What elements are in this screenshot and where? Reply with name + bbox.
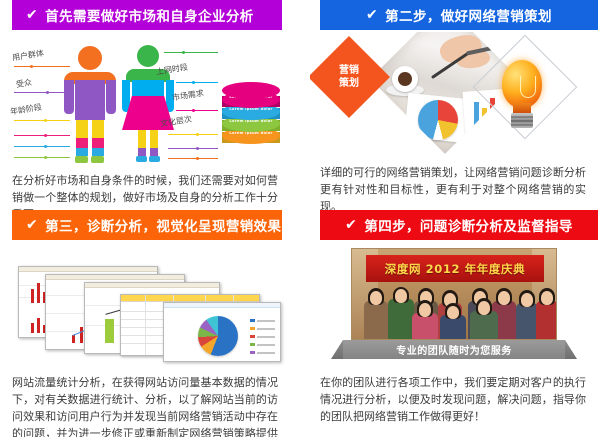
report-header-4 <box>121 295 259 302</box>
check-icon: ✔ <box>26 217 38 231</box>
male-leg-right-seg2 <box>92 138 104 148</box>
quadrant-step-2: ✔ 第二步，做好网络营销策划 <box>310 0 598 215</box>
quadrant-step-1: ✔ 首先需要做好市场和自身企业分析 <box>0 0 288 223</box>
leader-dot-2 <box>46 91 49 94</box>
leader-dot-8 <box>192 81 195 84</box>
male-leg-right <box>92 120 104 138</box>
male-arm-left <box>64 80 74 114</box>
leader-dot-12 <box>196 157 199 160</box>
quadrant-step-4: ✔ 第四步，问题诊断分析及监督指导 深度网 2012 年年度庆典 <box>310 210 598 425</box>
figure-people-database: 用户群体 受众 年龄阶段 上网时段 市场需求 文化层次 <box>0 36 288 164</box>
leader-line-12 <box>168 158 218 159</box>
bar-1 <box>474 102 479 128</box>
leader-line-8 <box>176 82 218 83</box>
male-leg-left <box>76 120 88 138</box>
pie-chart-icon <box>418 100 458 140</box>
leader-dot-3 <box>44 119 47 122</box>
event-banner: 深度网 2012 年年度庆典 <box>366 255 544 282</box>
label-online-hours: 上网时段 <box>155 62 188 78</box>
male-foot-left <box>75 156 88 163</box>
figure-team-photo: 深度网 2012 年年度庆典 <box>310 246 598 368</box>
banner-label-step-3: 第三，诊断分析，视觉化呈现营销效果 <box>45 215 281 235</box>
team-photo-caption-bar: 专业的团队随时为您服务 <box>343 340 565 359</box>
label-audience: 受众 <box>15 77 33 90</box>
leader-dot-7 <box>182 51 185 54</box>
banner-label-step-4: 第四步，问题诊断分析及监督指导 <box>364 215 573 235</box>
female-foot-left <box>136 156 147 162</box>
male-leg-left-seg2 <box>76 138 88 148</box>
figure-marketing-plan: 营销 策划 <box>310 32 598 158</box>
bulb-filament <box>520 76 536 98</box>
paragraph-step-3: 网站流量统计分析，在获得网站访问量基本数据的情况下，对有关数据进行统计、分析，以… <box>0 374 288 437</box>
person-9 <box>412 299 438 339</box>
person-7 <box>516 285 538 339</box>
person-8 <box>536 283 557 339</box>
leader-line-3 <box>14 120 70 121</box>
check-icon: ✔ <box>26 7 38 21</box>
female-leg-right-seg2 <box>150 148 158 156</box>
female-leg-left-seg2 <box>138 148 146 156</box>
male-foot-right <box>91 156 104 163</box>
leader-dot-5 <box>44 145 47 148</box>
pie-chart-report <box>198 316 238 356</box>
male-leg-left-seg3 <box>76 148 88 156</box>
banner-step-1: ✔ 首先需要做好市场和自身企业分析 <box>12 0 282 30</box>
female-leg-left <box>138 130 146 148</box>
female-head-icon <box>137 45 159 67</box>
team-photo: 深度网 2012 年年度庆典 <box>351 248 557 340</box>
male-torso <box>75 80 105 120</box>
female-foot-right <box>149 156 160 162</box>
database-stack-icon: Lorem Ipsum dolor Lorem Ipsum dolor Lore… <box>222 82 280 152</box>
check-icon: ✔ <box>366 7 378 21</box>
figure-report-screenshots <box>0 250 288 368</box>
page-root: ✔ 首先需要做好市场和自身企业分析 <box>0 0 600 437</box>
check-icon: ✔ <box>345 217 357 231</box>
paragraph-step-2: 详细的可行的网络营销策划，让网络营销问题诊断分析更有针对性和目标性，更有利于对整… <box>310 164 598 215</box>
leader-dot-4 <box>44 134 47 137</box>
label-age-range: 年龄阶段 <box>9 102 42 118</box>
db-disc-top <box>222 82 280 99</box>
leader-dot-1 <box>30 65 33 68</box>
plinth-left <box>331 340 343 359</box>
report-header-1 <box>19 267 157 272</box>
lightbulb-icon <box>496 60 548 134</box>
female-torso <box>132 80 164 97</box>
quadrant-step-3: ✔ 第三，诊断分析，视觉化呈现营销效果 <box>0 210 288 437</box>
female-leg-right <box>150 130 158 148</box>
leader-line-5 <box>14 146 70 147</box>
banner-step-3: ✔ 第三，诊断分析，视觉化呈现营销效果 <box>12 210 282 240</box>
bulb-base <box>511 113 533 128</box>
person-11 <box>470 297 498 339</box>
marketing-plan-diamond-label: 营销 策划 <box>339 64 359 90</box>
banner-step-4: ✔ 第四步，问题诊断分析及监督指导 <box>320 210 598 240</box>
male-leg-right-seg3 <box>92 148 104 156</box>
person-1 <box>364 285 388 339</box>
team-photo-caption: 专业的团队随时为您服务 <box>396 342 512 357</box>
male-head-icon <box>78 46 102 70</box>
plinth-right <box>565 340 577 359</box>
person-2 <box>388 281 414 339</box>
leader-dot-6 <box>44 156 47 159</box>
male-arm-right <box>106 80 116 114</box>
bulb-glass <box>502 60 542 108</box>
banner-label-step-1: 首先需要做好市场和自身企业分析 <box>45 5 254 25</box>
leader-line-10 <box>168 134 218 135</box>
leader-line-2 <box>14 92 70 93</box>
label-user-group: 用户群体 <box>11 48 44 64</box>
marketing-plan-diamond: 营销 策划 <box>310 36 390 118</box>
diamond-label-line-2: 策划 <box>339 77 359 90</box>
coffee-cup-icon <box>392 66 418 92</box>
leader-line-7 <box>164 52 218 53</box>
report-header-2 <box>46 275 184 280</box>
leader-line-4 <box>14 135 70 136</box>
leader-line-11 <box>168 148 218 149</box>
leader-line-6 <box>14 157 70 158</box>
leader-dot-10 <box>196 133 199 136</box>
label-market-demand: 市场需求 <box>171 88 204 104</box>
banner-label-step-2: 第二步，做好网络营销策划 <box>385 5 552 25</box>
paragraph-step-4: 在你的团队进行各项工作中，我们要定期对客户的执行情况进行分析，以便及时发现问题，… <box>310 374 598 425</box>
event-banner-text: 深度网 2012 年年度庆典 <box>385 261 525 277</box>
report-header-3 <box>85 283 219 288</box>
banner-step-2: ✔ 第二步，做好网络营销策划 <box>320 0 598 30</box>
bar-2 <box>482 108 487 128</box>
leader-line-9 <box>176 110 218 111</box>
leader-dot-9 <box>192 109 195 112</box>
leader-dot-11 <box>196 147 199 150</box>
report-header-5 <box>164 303 280 308</box>
report-sheet-5 <box>163 302 281 362</box>
person-10 <box>440 303 466 339</box>
leader-line-1 <box>14 66 70 67</box>
diamond-label-line-1: 营销 <box>339 64 359 77</box>
